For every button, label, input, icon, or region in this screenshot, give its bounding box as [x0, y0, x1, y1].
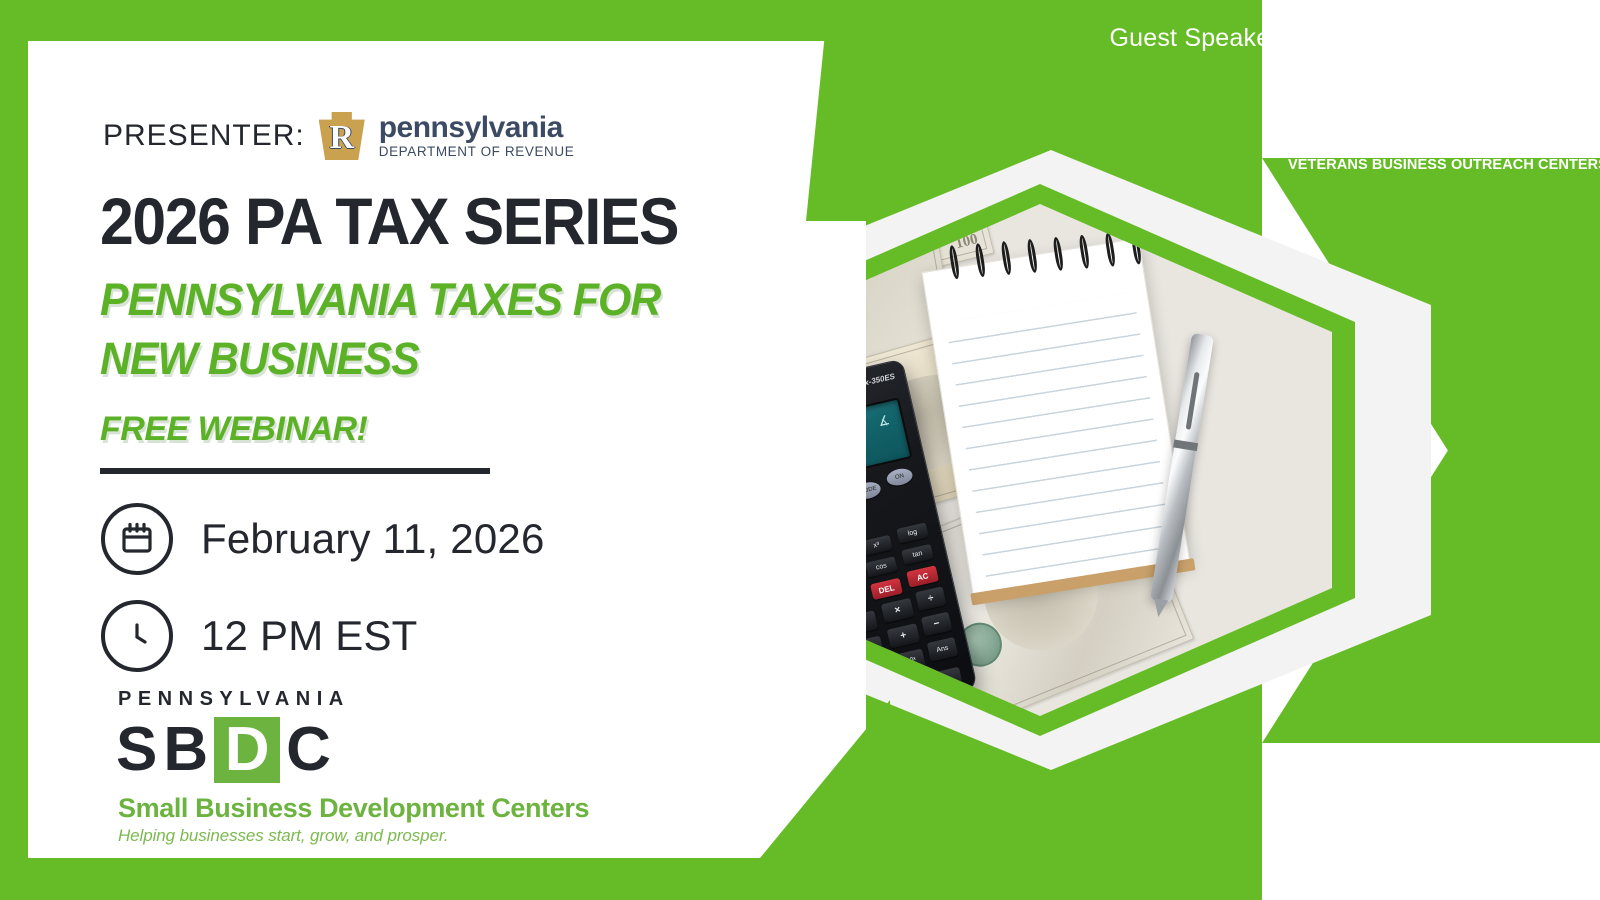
clock-icon	[101, 600, 173, 672]
sbdc-letter-b: B	[163, 719, 208, 781]
vboc-acronym: VBOC	[1282, 51, 1594, 130]
guest-speaker-label: Guest Speaker:	[1109, 24, 1286, 53]
divider-rule	[100, 468, 490, 474]
presenter-row: PRESENTER: R pennsylvania DEPARTMENT OF …	[103, 112, 574, 160]
vboc-bottom-line: VETERANS BUSINESS OUTREACH CENTERS	[1288, 157, 1588, 173]
event-date: February 11, 2026	[201, 515, 545, 563]
subtitle: PENNSYLVANIA TAXES FOR NEW BUSINESS	[100, 270, 660, 389]
star-icon: ★	[1429, 133, 1448, 154]
sbdc-letter-d: D	[214, 717, 280, 783]
vboc-rule-bottom: ★	[1288, 133, 1588, 154]
sbdc-acronym: S B D C	[116, 717, 589, 783]
event-date-row: February 11, 2026	[101, 503, 545, 575]
sbdc-letter-c: C	[286, 719, 331, 781]
vboc-top-line: U.S. SMALL BUSINESS ADMINISTRATION	[1288, 6, 1588, 24]
pa-wordmark-subtitle: DEPARTMENT OF REVENUE	[379, 145, 575, 159]
event-time: 12 PM EST	[201, 612, 418, 660]
pa-keystone-icon: R	[319, 112, 365, 160]
pa-revenue-wordmark: pennsylvania DEPARTMENT OF REVENUE	[379, 113, 575, 159]
calendar-icon	[101, 503, 173, 575]
sbdc-name: Small Business Development Centers	[118, 793, 589, 824]
sbdc-tagline: Helping businesses start, grow, and pros…	[118, 826, 589, 846]
free-webinar-badge: FREE WEBINAR!	[100, 410, 367, 449]
presenter-label: PRESENTER:	[103, 119, 305, 153]
sbdc-state: PENNSYLVANIA	[118, 688, 589, 711]
calculator-model: fx-350ES	[861, 372, 896, 388]
flyer-canvas: 100 100 50 50 10 10 5	[0, 0, 1600, 900]
sbdc-logo: PENNSYLVANIA S B D C Small Business Deve…	[118, 688, 589, 846]
pa-wordmark-name: pennsylvania	[379, 113, 575, 143]
event-time-row: 12 PM EST	[101, 600, 418, 672]
vboc-logo: U.S. SMALL BUSINESS ADMINISTRATION ★ VBO…	[1288, 6, 1588, 173]
keystone-letter: R	[319, 112, 365, 160]
sbdc-letter-s: S	[116, 719, 157, 781]
page-title: 2026 PA TAX SERIES	[100, 183, 678, 259]
